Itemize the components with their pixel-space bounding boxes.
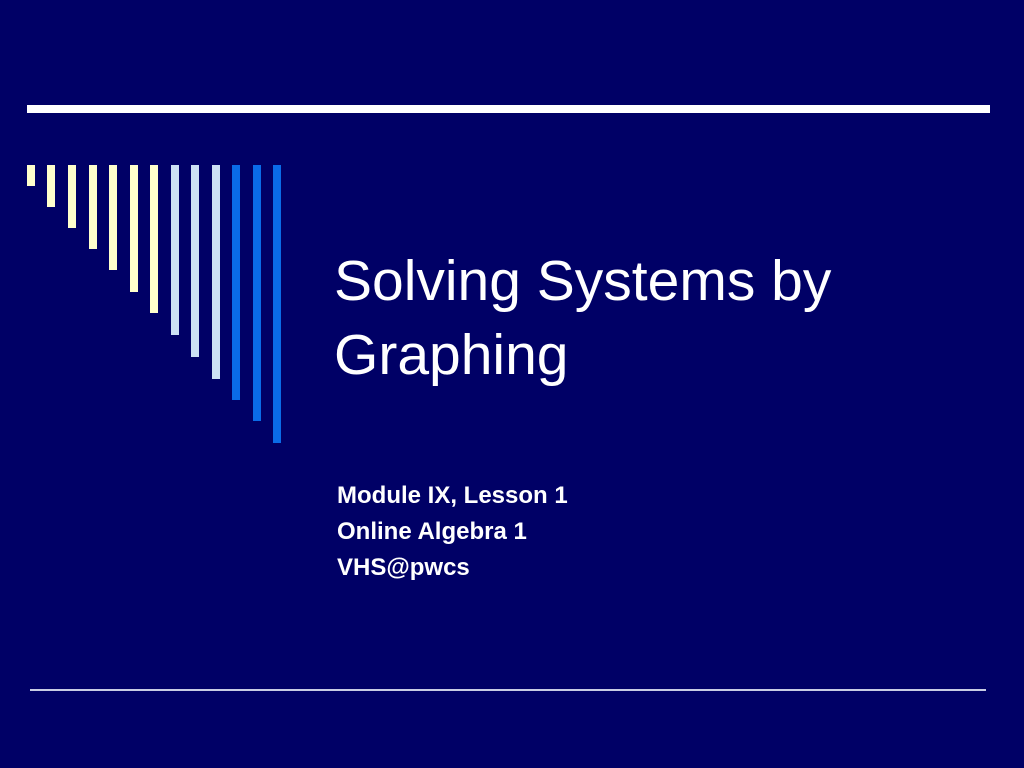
decoration-bar xyxy=(68,165,76,228)
page-title: Solving Systems by Graphing xyxy=(334,244,934,392)
decoration-bar xyxy=(109,165,117,270)
subtitle-line-course: Online Algebra 1 xyxy=(337,514,857,550)
decoration-bar xyxy=(150,165,158,313)
descending-bar-graphic xyxy=(0,0,320,470)
subtitle-line-module: Module IX, Lesson 1 xyxy=(337,478,857,514)
decoration-bar xyxy=(253,165,261,421)
decoration-bar xyxy=(27,165,35,186)
decoration-bar xyxy=(212,165,220,379)
decoration-bar xyxy=(130,165,138,292)
decoration-bar xyxy=(273,165,281,443)
footer-divider xyxy=(30,689,986,691)
subtitle-block: Module IX, Lesson 1 Online Algebra 1 VHS… xyxy=(337,478,857,586)
decoration-bar xyxy=(89,165,97,249)
subtitle-line-organization: VHS@pwcs xyxy=(337,550,857,586)
decoration-bar xyxy=(232,165,240,400)
presentation-slide: Solving Systems by Graphing Module IX, L… xyxy=(0,0,1024,768)
decoration-bar xyxy=(191,165,199,357)
decoration-bar xyxy=(171,165,179,335)
decoration-bar xyxy=(47,165,55,207)
